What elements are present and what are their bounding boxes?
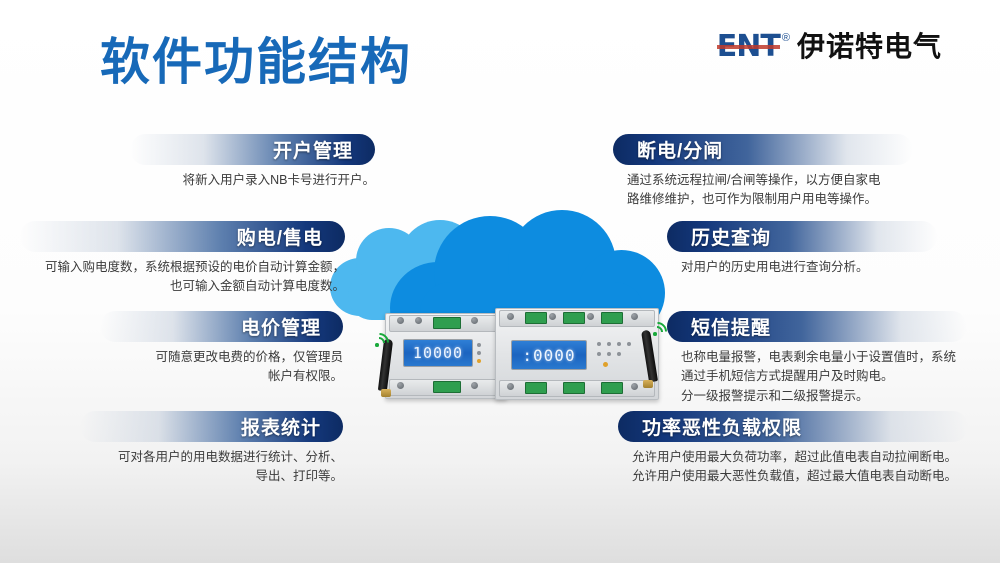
feature-description: 可随意更改电费的价格，仅管理员 帐户有权限。 <box>100 348 343 387</box>
feature-title-pill[interactable]: 历史查询 <box>667 221 937 252</box>
feature-title: 短信提醒 <box>691 313 771 340</box>
feature-duandian-fenzha[interactable]: 断电/分闸 通过系统远程拉闸/合闸等操作，以方便自家电 路维修维护，也可作为限制… <box>613 134 913 210</box>
feature-title-pill[interactable]: 开户管理 <box>130 134 375 165</box>
feature-description: 对用户的历史用电进行查询分析。 <box>667 258 937 277</box>
logo-ent-text: ENT <box>717 32 780 62</box>
feature-gonglv-exing-fuzai-quanxian[interactable]: 功率恶性负载权限 允许用户使用最大负荷功率，超过此值电表自动拉闸断电。 允许用户… <box>618 411 968 487</box>
meter-lcd-display: :0000 <box>511 340 587 370</box>
feature-description: 也称电量报警，电表剩余电量小于设置值时，系统 通过手机短信方式提醒用户及时购电。… <box>667 348 967 406</box>
feature-title-pill[interactable]: 电价管理 <box>100 311 343 342</box>
wifi-signal-icon <box>369 325 395 351</box>
feature-description: 可输入购电度数，系统根据预设的电价自动计算金额， 也可输入金额自动计算电度数。 <box>20 258 345 297</box>
feature-title-pill[interactable]: 短信提醒 <box>667 311 967 342</box>
page-title: 软件功能结构 <box>100 22 412 94</box>
cloud-illustration: 10000 <box>330 200 660 430</box>
meter-lcd-display: 10000 <box>403 339 473 367</box>
feature-description: 允许用户使用最大负荷功率，超过此值电表自动拉闸断电。 允许用户使用最大恶性负载值… <box>618 448 968 487</box>
feature-title: 断电/分闸 <box>637 136 723 163</box>
feature-goudian-shoudian[interactable]: 购电/售电 可输入购电度数，系统根据预设的电价自动计算金额， 也可输入金额自动计… <box>20 221 345 297</box>
feature-title: 功率恶性负载权限 <box>642 413 802 440</box>
feature-title-pill[interactable]: 功率恶性负载权限 <box>618 411 968 442</box>
feature-title: 报表统计 <box>241 413 321 440</box>
feature-kaihu-guanli[interactable]: 开户管理 将新入用户录入NB卡号进行开户。 <box>130 134 375 190</box>
feature-title: 电价管理 <box>241 313 321 340</box>
feature-lishi-chaxun[interactable]: 历史查询 对用户的历史用电进行查询分析。 <box>667 221 937 277</box>
feature-dianjia-guanli[interactable]: 电价管理 可随意更改电费的价格，仅管理员 帐户有权限。 <box>100 311 343 387</box>
logo-company-name: 伊诺特电气 <box>797 33 942 61</box>
meter-lcd-value: :0000 <box>522 346 575 365</box>
feature-title-pill[interactable]: 购电/售电 <box>20 221 345 252</box>
slide-canvas: 软件功能结构 ENT ® 伊诺特电气 <box>0 0 1000 563</box>
registered-trademark-icon: ® <box>782 33 790 44</box>
logo-mark: ENT ® <box>717 32 790 62</box>
nb-iot-meter-large: :0000 <box>485 300 670 405</box>
feature-title-pill[interactable]: 断电/分闸 <box>613 134 913 165</box>
feature-duanxin-tixing[interactable]: 短信提醒 也称电量报警，电表剩余电量小于设置值时，系统 通过手机短信方式提醒用户… <box>667 311 967 406</box>
feature-description: 通过系统远程拉闸/合闸等操作，以方便自家电 路维修维护，也可作为限制用户用电等操… <box>613 171 913 210</box>
feature-title: 历史查询 <box>691 223 771 250</box>
feature-description: 将新入用户录入NB卡号进行开户。 <box>130 171 375 190</box>
company-logo: ENT ® 伊诺特电气 <box>717 32 942 62</box>
feature-title: 购电/售电 <box>237 223 323 250</box>
feature-title-pill[interactable]: 报表统计 <box>80 411 343 442</box>
meter-lcd-value: 10000 <box>413 344 463 362</box>
feature-title: 开户管理 <box>273 136 353 163</box>
feature-baobiao-tongji[interactable]: 报表统计 可对各用户的用电数据进行统计、分析、 导出、打印等。 <box>80 411 343 487</box>
feature-description: 可对各用户的用电数据进行统计、分析、 导出、打印等。 <box>80 448 343 487</box>
